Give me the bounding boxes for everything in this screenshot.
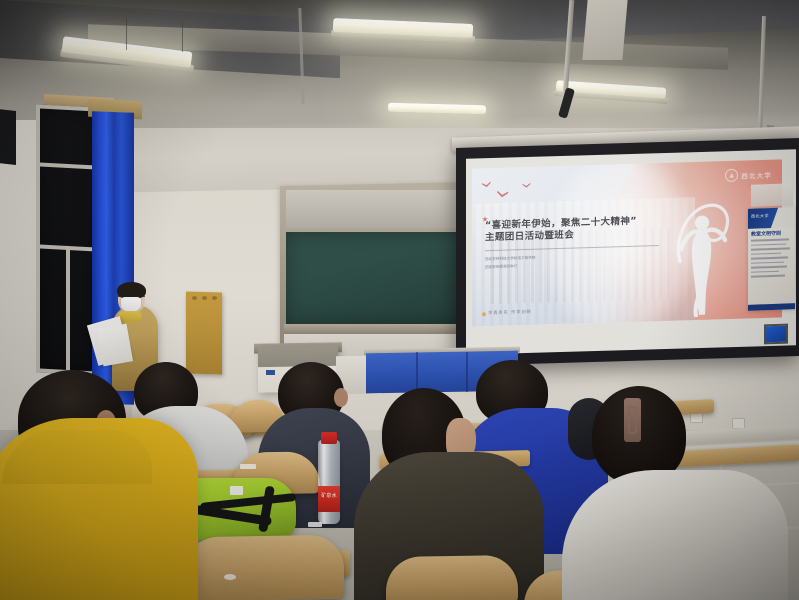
student-white-jacket (562, 470, 788, 600)
bottle-cap (321, 432, 337, 444)
cabinet-divider (416, 352, 418, 392)
poster-body-text (751, 238, 792, 280)
classroom-photo: “喜迎新年伊始，聚焦二十大精神” 主题团日活动暨班会 西北农林科技大学机电工程学… (0, 0, 799, 600)
paper-scrap (308, 522, 322, 527)
seat-back (184, 535, 344, 600)
classroom-rules-poster: 西北大学 教室文明守则 (748, 207, 795, 311)
presentation-slide: “喜迎新年伊始，聚焦二十大精神” 主题团日活动暨班会 西北农林科技大学机电工程学… (472, 159, 782, 326)
light-suspension-wire (126, 18, 127, 50)
poster-header-text: 西北大学 (751, 213, 769, 220)
presenter-scarf (118, 311, 142, 322)
window-mullion (40, 163, 96, 170)
wooden-coat-board (186, 291, 222, 374)
cabinet-divider (466, 352, 468, 392)
coat-hook (212, 296, 217, 300)
wall-control-panel[interactable] (764, 324, 788, 345)
ceiling-hanging-panel (582, 0, 627, 60)
blackboard-upper-track (286, 190, 464, 228)
bird-icon (482, 181, 492, 187)
wall-mounted-panel (0, 109, 16, 165)
printed-papers (97, 324, 133, 367)
bird-icon (497, 191, 509, 198)
university-logo: ▲ 西北大学 (725, 168, 772, 182)
wall-notice-board (751, 183, 793, 206)
bottle-label-text: 矿泉水 (318, 492, 340, 499)
student-ear (334, 388, 348, 407)
university-emblem-icon: ▲ (725, 169, 738, 182)
bird-icon (522, 183, 530, 188)
green-chalkboard (286, 232, 464, 324)
hair-clip-detail (628, 406, 637, 434)
window-mullion (66, 246, 70, 378)
chalk-tray (284, 324, 466, 334)
seat-back (386, 555, 518, 600)
paper-scrap (224, 574, 236, 580)
slide-footer-text: 求真务实 乐学创新 (488, 309, 532, 316)
backpack-tag (230, 486, 243, 495)
paper-scrap (240, 464, 256, 469)
lectern-badge (266, 370, 275, 375)
light-suspension-wire (182, 22, 183, 52)
coat-hook (202, 296, 207, 300)
ribbon-dancer-silhouette (672, 186, 732, 318)
bottle-label (318, 486, 340, 512)
poster-title: 教室文明守则 (751, 230, 781, 238)
coat-hook (192, 296, 197, 300)
face-mask (121, 297, 141, 312)
university-logo-text: 西北大学 (741, 169, 772, 180)
